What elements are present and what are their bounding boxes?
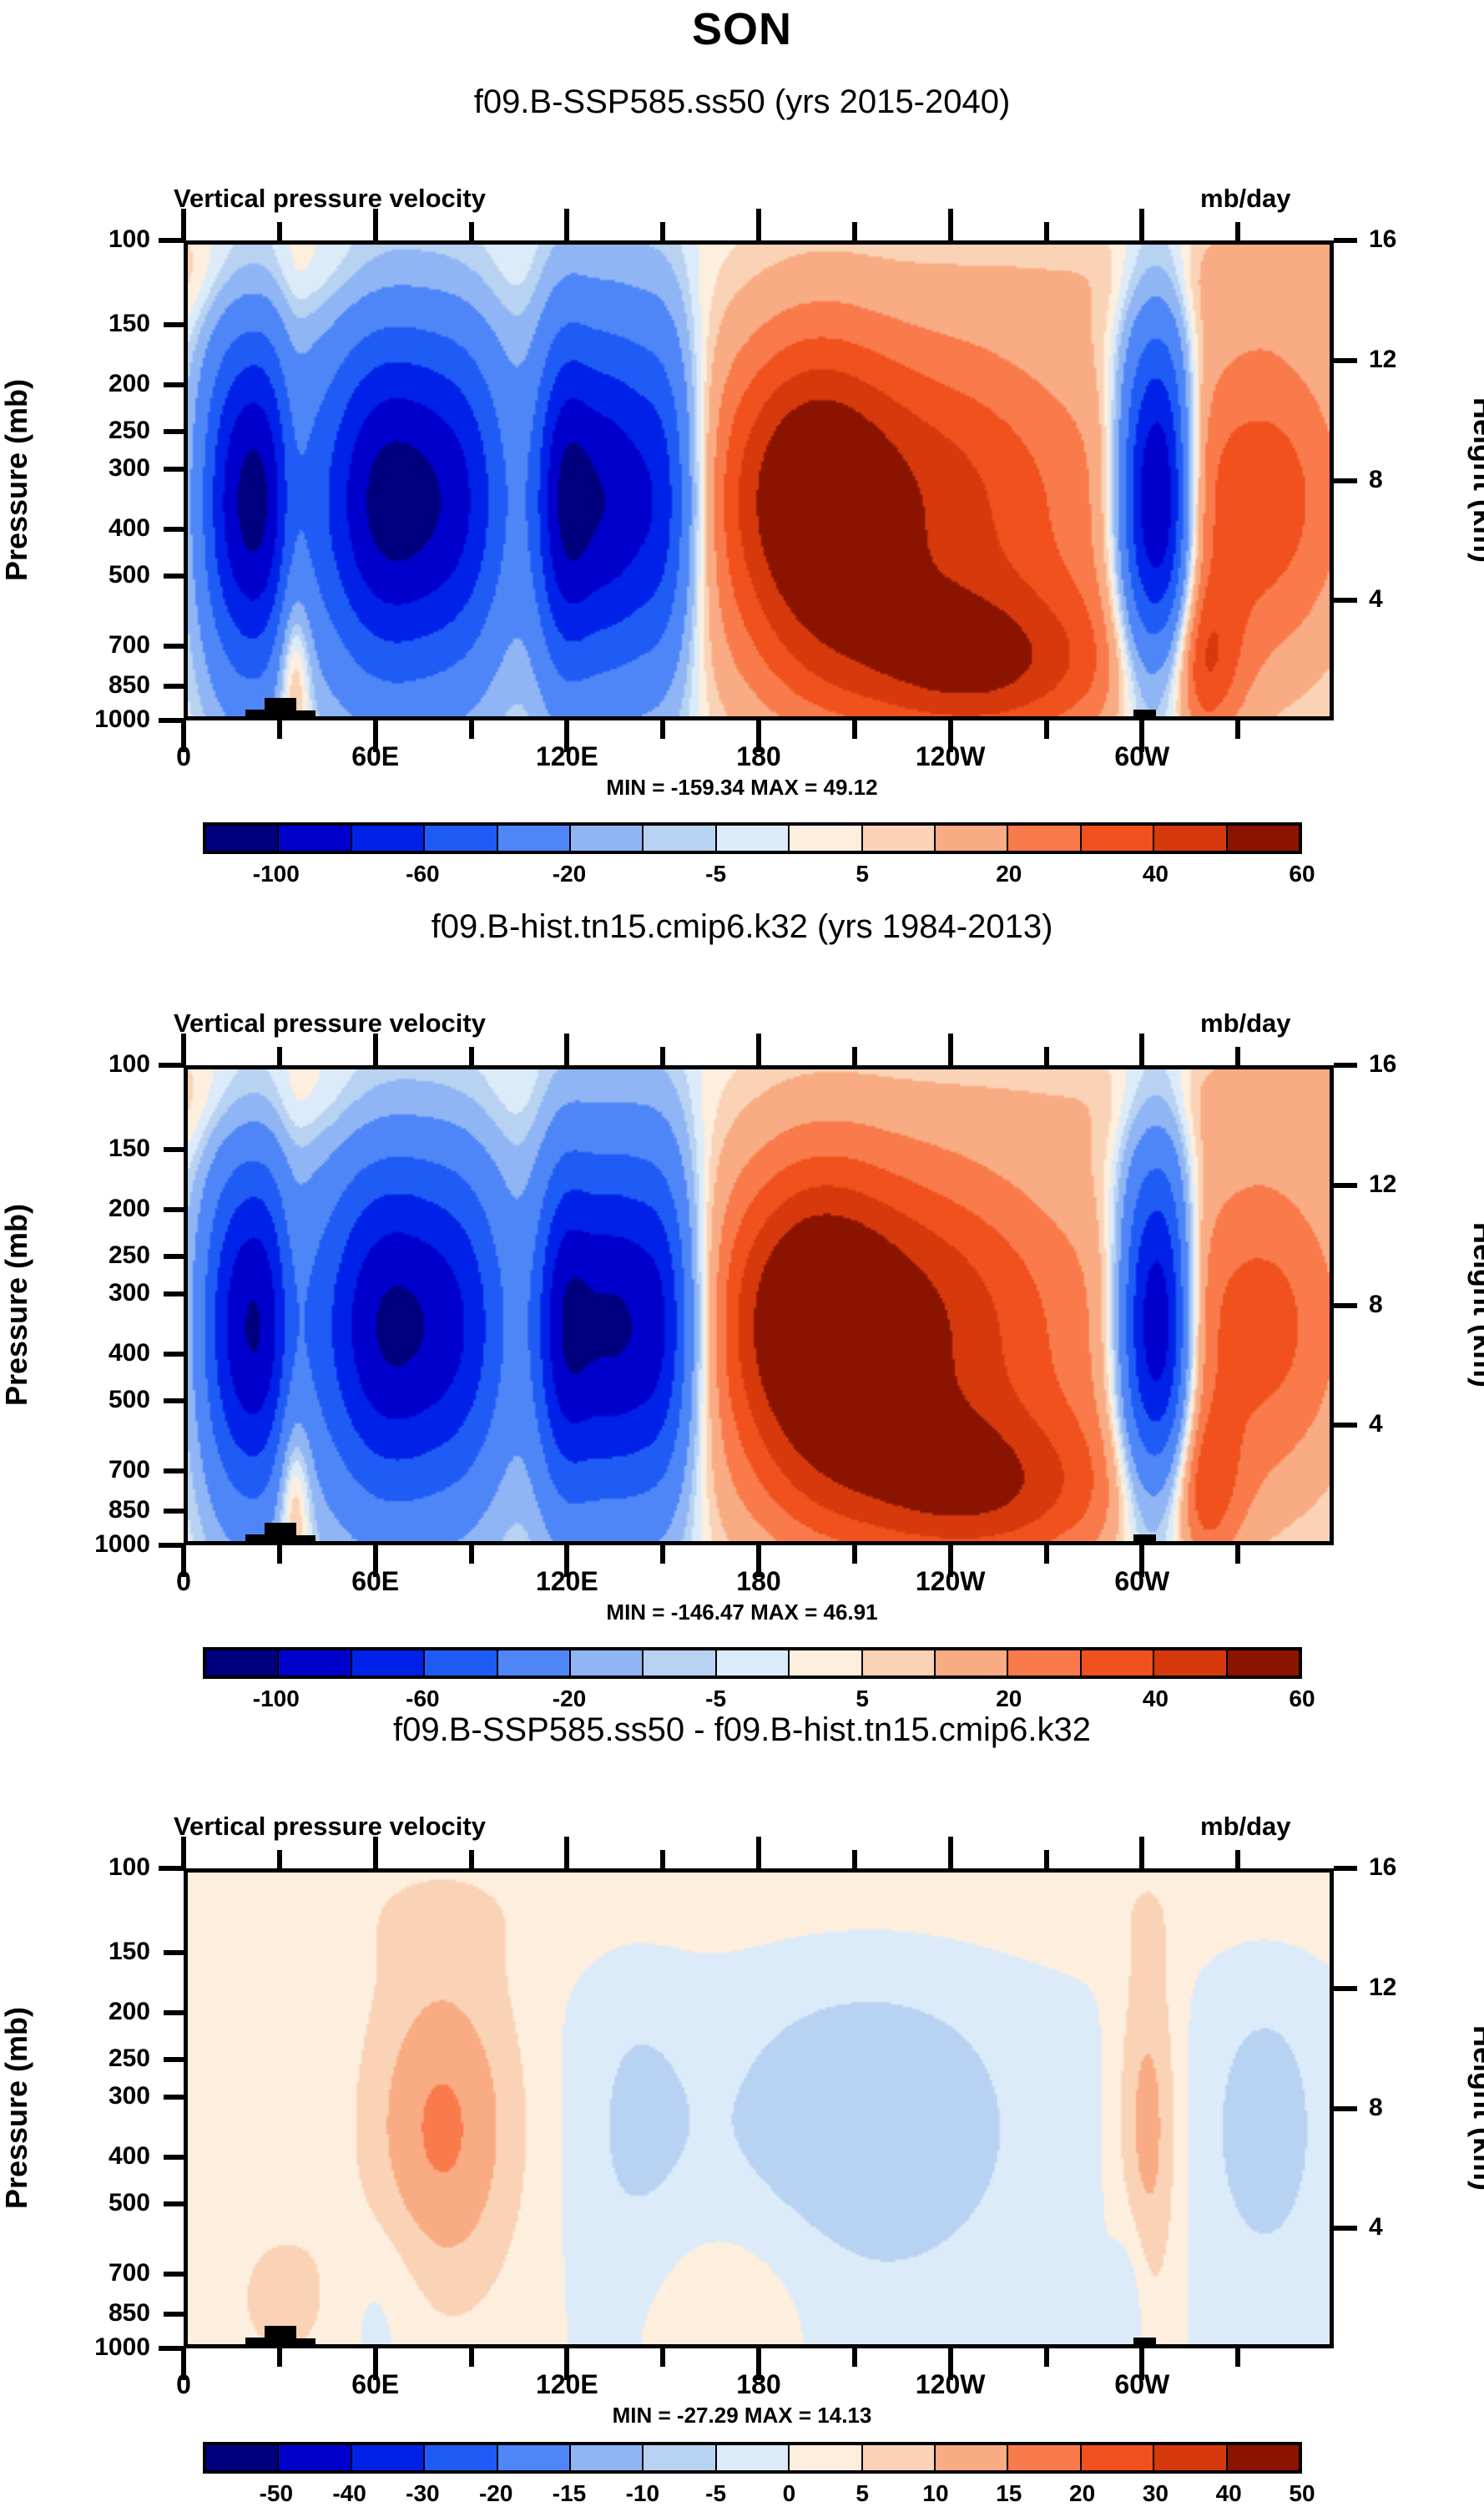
lon-minor-tick bbox=[277, 1047, 282, 1065]
colorbar-cell bbox=[206, 2445, 279, 2470]
lon-major-tick bbox=[373, 1837, 378, 1868]
colorbar-cell bbox=[1154, 1650, 1227, 1676]
contour-field-3 bbox=[188, 1873, 1330, 2344]
colorbar-tick-label: 30 bbox=[1143, 2480, 1169, 2507]
lon-minor-tick bbox=[852, 720, 857, 739]
lon-major-tick bbox=[373, 209, 378, 240]
lon-tick-label: 60W bbox=[1067, 1566, 1217, 1597]
height-tick-label: 8 bbox=[1369, 466, 1383, 494]
colorbar-cell bbox=[863, 1650, 936, 1676]
height-tick-label: 16 bbox=[1369, 1050, 1396, 1079]
units-label-1: mb/day bbox=[1200, 184, 1291, 214]
lon-minor-tick bbox=[660, 1850, 665, 1868]
pressure-tick bbox=[159, 1866, 184, 1871]
lon-minor-tick bbox=[1235, 1850, 1240, 1868]
colorbar-tick-label: 40 bbox=[1143, 861, 1169, 887]
topography-mask bbox=[1156, 1542, 1184, 1545]
lon-minor-tick bbox=[469, 1850, 474, 1868]
colorbar-cell bbox=[1082, 2445, 1154, 2470]
colorbar-tick-label: -100 bbox=[253, 861, 300, 887]
height-tick-label: 4 bbox=[1369, 585, 1383, 614]
pressure-tick-label: 300 bbox=[17, 1279, 150, 1307]
panel-title-3: f09.B-SSP585.ss50 - f09.B-hist.tn15.cmip… bbox=[0, 1711, 1484, 1749]
colorbar-cell bbox=[279, 1650, 351, 1676]
height-tick bbox=[1334, 1063, 1357, 1068]
colorbar-cell bbox=[790, 826, 862, 851]
y-axis-label-right-3: Height (km) bbox=[1466, 1966, 1484, 2250]
pressure-tick-label: 100 bbox=[17, 1050, 150, 1079]
colorbar-cell bbox=[206, 826, 279, 851]
colorbar-cell bbox=[279, 826, 351, 851]
units-label-3: mb/day bbox=[1200, 1812, 1291, 1842]
pressure-tick-label: 500 bbox=[17, 2189, 150, 2217]
lon-tick-label: 60E bbox=[300, 1566, 451, 1597]
colorbar-tick-label: -5 bbox=[705, 861, 726, 887]
lon-major-tick bbox=[564, 1034, 569, 1065]
colorbar-tick-label: -10 bbox=[626, 2480, 659, 2507]
minmax-label-3: MIN = -27.29 MAX = 14.13 bbox=[0, 2403, 1484, 2429]
topography-mask bbox=[411, 720, 431, 720]
colorbar-tick-label: 20 bbox=[996, 1686, 1022, 1712]
colorbar-cell bbox=[279, 2445, 351, 2470]
pressure-tick bbox=[164, 527, 184, 532]
pressure-tick-label: 400 bbox=[17, 514, 150, 543]
topography-mask bbox=[265, 1523, 296, 1545]
lon-minor-tick bbox=[277, 222, 282, 240]
pressure-tick-label: 150 bbox=[17, 1938, 150, 1966]
colorbar-tick-label: 5 bbox=[856, 1686, 869, 1712]
minmax-label-2: MIN = -146.47 MAX = 46.91 bbox=[0, 1600, 1484, 1625]
colorbar-2[interactable] bbox=[203, 1647, 1302, 1679]
pressure-tick-label: 400 bbox=[17, 1339, 150, 1367]
colorbar-tick-label: 60 bbox=[1289, 1686, 1315, 1712]
topography-mask bbox=[245, 2338, 265, 2348]
pressure-tick-label: 200 bbox=[17, 1998, 150, 2026]
pressure-tick bbox=[164, 1352, 184, 1357]
colorbar-tick-label: -5 bbox=[705, 2480, 726, 2507]
height-tick bbox=[1334, 598, 1357, 603]
lon-tick-label: 60W bbox=[1067, 741, 1217, 772]
y-axis-label-right-1: Height (km) bbox=[1466, 338, 1484, 622]
colorbar-cell bbox=[206, 1650, 279, 1676]
lon-tick-label: 120W bbox=[876, 2369, 1026, 2400]
height-tick-label: 12 bbox=[1369, 1974, 1396, 2002]
pressure-tick-label: 150 bbox=[17, 1135, 150, 1163]
lon-minor-tick bbox=[1235, 1047, 1240, 1065]
pressure-tick bbox=[164, 382, 184, 387]
topography-mask bbox=[214, 2344, 245, 2348]
lon-major-tick bbox=[948, 1034, 953, 1065]
pressure-tick bbox=[164, 2155, 184, 2160]
height-tick-label: 16 bbox=[1369, 1853, 1396, 1882]
colorbar-cell bbox=[863, 826, 936, 851]
lon-minor-tick bbox=[469, 720, 474, 739]
pressure-tick-label: 1000 bbox=[17, 2333, 150, 2362]
colorbar-tick-label: -50 bbox=[260, 2480, 293, 2507]
lon-tick-label: 120W bbox=[876, 1566, 1026, 1597]
colorbar-tick-label: -60 bbox=[406, 1686, 439, 1712]
topography-mask bbox=[296, 1535, 315, 1545]
panel-title-1: f09.B-SSP585.ss50 (yrs 2015-2040) bbox=[0, 83, 1484, 121]
plot-area-2 bbox=[184, 1065, 1334, 1545]
colorbar-tick-label: -20 bbox=[553, 1686, 586, 1712]
lon-minor-tick bbox=[1044, 1545, 1049, 1564]
colorbar-cell bbox=[936, 1650, 1008, 1676]
colorbar-tick-label: 60 bbox=[1289, 861, 1315, 887]
colorbar-cell bbox=[717, 826, 790, 851]
lon-minor-tick bbox=[469, 1047, 474, 1065]
topography-mask bbox=[1156, 2345, 1184, 2348]
pressure-tick-label: 850 bbox=[17, 1496, 150, 1524]
pressure-tick-label: 250 bbox=[17, 417, 150, 445]
topography-mask bbox=[296, 710, 315, 720]
colorbar-tick-label: -20 bbox=[479, 2480, 512, 2507]
lon-major-tick bbox=[756, 209, 761, 240]
plot-area-1 bbox=[184, 240, 1334, 720]
lon-tick-label: 0 bbox=[109, 1566, 259, 1597]
lon-minor-tick bbox=[469, 2348, 474, 2367]
contour-field-1 bbox=[188, 245, 1330, 716]
lon-major-tick bbox=[948, 209, 953, 240]
pressure-tick bbox=[159, 718, 184, 723]
pressure-tick bbox=[164, 2272, 184, 2277]
lon-major-tick bbox=[948, 1837, 953, 1868]
height-tick-label: 12 bbox=[1369, 1170, 1396, 1199]
colorbar-tick-label: 40 bbox=[1143, 1686, 1169, 1712]
height-tick-label: 8 bbox=[1369, 1291, 1383, 1319]
variable-label-2: Vertical pressure velocity bbox=[174, 1008, 486, 1039]
pressure-tick-label: 250 bbox=[17, 1241, 150, 1270]
pressure-tick-label: 850 bbox=[17, 671, 150, 700]
pressure-tick-label: 400 bbox=[17, 2142, 150, 2171]
lon-tick-label: 120E bbox=[492, 2369, 642, 2400]
colorbar-tick-label: -30 bbox=[406, 2480, 439, 2507]
colorbar-tick-label: -5 bbox=[705, 1686, 726, 1712]
colorbar-cell bbox=[1082, 826, 1154, 851]
lon-minor-tick bbox=[660, 1047, 665, 1065]
colorbar-cell bbox=[425, 2445, 497, 2470]
colorbar-cell bbox=[1154, 2445, 1227, 2470]
topography-mask bbox=[214, 716, 245, 720]
colorbar-tick-label: -60 bbox=[406, 861, 439, 887]
pressure-tick bbox=[164, 1398, 184, 1403]
pressure-tick-label: 500 bbox=[17, 1386, 150, 1414]
colorbar-cell bbox=[644, 826, 716, 851]
lon-minor-tick bbox=[660, 1545, 665, 1564]
lon-minor-tick bbox=[852, 1850, 857, 1868]
lon-minor-tick bbox=[660, 2348, 665, 2367]
height-tick-label: 8 bbox=[1369, 2094, 1383, 2122]
lon-major-tick bbox=[756, 1837, 761, 1868]
lon-major-tick bbox=[181, 209, 186, 240]
height-tick-label: 12 bbox=[1369, 346, 1396, 374]
colorbar-tick-label: -15 bbox=[553, 2480, 586, 2507]
pressure-tick bbox=[164, 2010, 184, 2015]
colorbar-tick-label: -100 bbox=[253, 1686, 300, 1712]
lon-major-tick bbox=[1139, 209, 1144, 240]
lon-minor-tick bbox=[1044, 2348, 1049, 2367]
colorbar-cell bbox=[936, 826, 1008, 851]
pressure-tick bbox=[159, 1543, 184, 1548]
colorbar-cell bbox=[790, 1650, 862, 1676]
variable-label-1: Vertical pressure velocity bbox=[174, 184, 486, 214]
lon-minor-tick bbox=[1044, 222, 1049, 240]
lon-minor-tick bbox=[852, 1047, 857, 1065]
colorbar-cell bbox=[571, 1650, 644, 1676]
lon-minor-tick bbox=[1044, 720, 1049, 739]
lon-minor-tick bbox=[1235, 2348, 1240, 2367]
y-axis-label-left-1: Pressure (mb) bbox=[0, 338, 34, 622]
lon-minor-tick bbox=[277, 1545, 282, 1564]
pressure-tick bbox=[164, 429, 184, 434]
colorbar-tick-label: 40 bbox=[1216, 2480, 1242, 2507]
colorbar-cell bbox=[863, 2445, 936, 2470]
lon-minor-tick bbox=[852, 1545, 857, 1564]
height-tick bbox=[1334, 1183, 1357, 1188]
colorbar-cell bbox=[717, 1650, 790, 1676]
colorbar-cell bbox=[1228, 826, 1299, 851]
lon-major-tick bbox=[564, 1837, 569, 1868]
units-label-2: mb/day bbox=[1200, 1008, 1291, 1039]
colorbar-cell bbox=[1228, 2445, 1299, 2470]
pressure-tick-label: 850 bbox=[17, 2299, 150, 2328]
pressure-tick-label: 300 bbox=[17, 454, 150, 483]
colorbar-tick-label: 5 bbox=[856, 861, 869, 887]
colorbar-cell bbox=[1008, 1650, 1081, 1676]
lon-minor-tick bbox=[660, 720, 665, 739]
colorbar-cell bbox=[498, 2445, 571, 2470]
colorbar-cell bbox=[936, 2445, 1008, 2470]
colorbar-cell bbox=[571, 826, 644, 851]
lon-minor-tick bbox=[1044, 1047, 1049, 1065]
lon-minor-tick bbox=[852, 2348, 857, 2367]
height-tick bbox=[1334, 2106, 1357, 2111]
lon-minor-tick bbox=[469, 222, 474, 240]
minmax-label-1: MIN = -159.34 MAX = 49.12 bbox=[0, 775, 1484, 801]
height-tick bbox=[1334, 1866, 1357, 1871]
height-tick-label: 16 bbox=[1369, 225, 1396, 254]
colorbar-cell bbox=[1154, 826, 1227, 851]
pressure-tick-label: 700 bbox=[17, 2259, 150, 2287]
pressure-tick bbox=[164, 2057, 184, 2062]
colorbar-tick-label: 10 bbox=[922, 2480, 948, 2507]
pressure-tick-label: 1000 bbox=[17, 705, 150, 734]
colorbar-tick-label: 20 bbox=[1069, 2480, 1095, 2507]
pressure-tick-label: 200 bbox=[17, 370, 150, 398]
height-tick bbox=[1334, 478, 1357, 483]
height-tick-label: 4 bbox=[1369, 1410, 1383, 1438]
lon-major-tick bbox=[373, 1034, 378, 1065]
topography-mask bbox=[1156, 717, 1184, 720]
pressure-tick-label: 100 bbox=[17, 1853, 150, 1882]
topography-mask bbox=[245, 1534, 265, 1545]
pressure-tick bbox=[164, 2201, 184, 2206]
pressure-tick-label: 500 bbox=[17, 561, 150, 589]
colorbar-cell bbox=[498, 826, 571, 851]
lon-major-tick bbox=[181, 1837, 186, 1868]
colorbar-cell bbox=[1008, 2445, 1081, 2470]
colorbar-tick-label: 20 bbox=[996, 861, 1022, 887]
y-axis-label-right-2: Height (km) bbox=[1466, 1163, 1484, 1447]
colorbar-cell bbox=[352, 1650, 425, 1676]
topography-mask bbox=[265, 2326, 296, 2348]
height-tick bbox=[1334, 1303, 1357, 1308]
pressure-tick bbox=[164, 1509, 184, 1514]
pressure-tick bbox=[164, 1291, 184, 1296]
colorbar-cell bbox=[644, 2445, 716, 2470]
lon-minor-tick bbox=[1044, 1850, 1049, 1868]
colorbar-cell bbox=[352, 2445, 425, 2470]
topography-mask bbox=[1133, 710, 1156, 720]
lon-major-tick bbox=[181, 1034, 186, 1065]
pressure-tick bbox=[164, 467, 184, 472]
lon-tick-label: 180 bbox=[684, 1566, 834, 1597]
topography-mask bbox=[1133, 1534, 1156, 1545]
lon-major-tick bbox=[564, 209, 569, 240]
contour-field-2 bbox=[188, 1069, 1330, 1541]
topography-mask bbox=[245, 710, 265, 720]
colorbar-cell bbox=[1008, 826, 1081, 851]
pressure-tick bbox=[159, 238, 184, 243]
pressure-tick-label: 200 bbox=[17, 1195, 150, 1223]
lon-tick-label: 0 bbox=[109, 2369, 259, 2400]
pressure-tick bbox=[164, 2095, 184, 2100]
colorbar-tick-label: -20 bbox=[553, 861, 586, 887]
colorbar-3[interactable] bbox=[203, 2442, 1302, 2474]
height-tick bbox=[1334, 1423, 1357, 1428]
plot-area-3 bbox=[184, 1868, 1334, 2348]
pressure-tick-label: 1000 bbox=[17, 1530, 150, 1559]
y-axis-label-left-3: Pressure (mb) bbox=[0, 1966, 34, 2250]
lon-minor-tick bbox=[277, 1850, 282, 1868]
y-axis-label-left-2: Pressure (mb) bbox=[0, 1163, 34, 1447]
lon-tick-label: 0 bbox=[109, 741, 259, 772]
lon-minor-tick bbox=[852, 222, 857, 240]
lon-major-tick bbox=[1139, 1837, 1144, 1868]
colorbar-cell bbox=[425, 826, 497, 851]
colorbar-tick-label: 15 bbox=[996, 2480, 1022, 2507]
lon-tick-label: 60W bbox=[1067, 2369, 1217, 2400]
pressure-tick-label: 150 bbox=[17, 310, 150, 338]
lon-major-tick bbox=[1139, 1034, 1144, 1065]
pressure-tick bbox=[159, 1063, 184, 1068]
lon-minor-tick bbox=[277, 2348, 282, 2367]
lon-tick-label: 120E bbox=[492, 741, 642, 772]
lon-tick-label: 180 bbox=[684, 741, 834, 772]
pressure-tick bbox=[164, 2312, 184, 2317]
topography-mask bbox=[265, 698, 296, 720]
colorbar-cell bbox=[425, 1650, 497, 1676]
height-tick bbox=[1334, 238, 1357, 243]
colorbar-tick-label: 0 bbox=[783, 2480, 796, 2507]
colorbar-cell bbox=[644, 1650, 716, 1676]
colorbar-cell bbox=[717, 2445, 790, 2470]
topography-mask bbox=[1092, 720, 1133, 720]
topography-mask bbox=[296, 2338, 315, 2348]
pressure-tick-label: 100 bbox=[17, 225, 150, 254]
lon-tick-label: 120E bbox=[492, 1566, 642, 1597]
colorbar-tick-label: -40 bbox=[332, 2480, 366, 2507]
pressure-tick-label: 250 bbox=[17, 2045, 150, 2073]
lon-major-tick bbox=[756, 1034, 761, 1065]
pressure-tick bbox=[164, 644, 184, 649]
colorbar-cell bbox=[498, 1650, 571, 1676]
pressure-tick-label: 300 bbox=[17, 2082, 150, 2110]
pressure-tick bbox=[164, 574, 184, 579]
lon-tick-label: 120W bbox=[876, 741, 1026, 772]
height-tick bbox=[1334, 1986, 1357, 1991]
topography-mask bbox=[1133, 2338, 1156, 2348]
lon-minor-tick bbox=[277, 720, 282, 739]
lon-tick-label: 180 bbox=[684, 2369, 834, 2400]
variable-label-3: Vertical pressure velocity bbox=[174, 1812, 486, 1842]
pressure-tick-label: 700 bbox=[17, 631, 150, 660]
pressure-tick bbox=[164, 1207, 184, 1212]
lon-minor-tick bbox=[469, 1545, 474, 1564]
colorbar-tick-label: 5 bbox=[856, 2480, 869, 2507]
pressure-tick bbox=[159, 2346, 184, 2351]
lon-tick-label: 60E bbox=[300, 2369, 451, 2400]
pressure-tick bbox=[164, 684, 184, 689]
lon-tick-label: 60E bbox=[300, 741, 451, 772]
pressure-tick bbox=[164, 1147, 184, 1152]
lon-minor-tick bbox=[660, 222, 665, 240]
colorbar-cell bbox=[571, 2445, 644, 2470]
main-title: SON bbox=[0, 3, 1484, 55]
height-tick bbox=[1334, 2226, 1357, 2231]
pressure-tick bbox=[164, 1468, 184, 1473]
colorbar-1[interactable] bbox=[203, 822, 1302, 854]
pressure-tick-label: 700 bbox=[17, 1456, 150, 1484]
lon-minor-tick bbox=[1235, 720, 1240, 739]
topography-mask bbox=[1092, 1544, 1133, 1545]
lon-minor-tick bbox=[1235, 222, 1240, 240]
pressure-tick bbox=[164, 1950, 184, 1955]
colorbar-cell bbox=[1082, 1650, 1154, 1676]
lon-minor-tick bbox=[1235, 1545, 1240, 1564]
topography-mask bbox=[1092, 2348, 1133, 2348]
pressure-tick bbox=[164, 1254, 184, 1259]
colorbar-tick-label: 50 bbox=[1289, 2480, 1315, 2507]
height-tick-label: 4 bbox=[1369, 2213, 1383, 2242]
panel-title-2: f09.B-hist.tn15.cmip6.k32 (yrs 1984-2013… bbox=[0, 908, 1484, 946]
topography-mask bbox=[411, 1544, 431, 1545]
topography-mask bbox=[214, 1541, 245, 1545]
height-tick bbox=[1334, 358, 1357, 363]
pressure-tick bbox=[164, 322, 184, 327]
colorbar-cell bbox=[352, 826, 425, 851]
topography-mask bbox=[411, 2348, 431, 2348]
colorbar-cell bbox=[790, 2445, 862, 2470]
colorbar-cell bbox=[1228, 1650, 1299, 1676]
